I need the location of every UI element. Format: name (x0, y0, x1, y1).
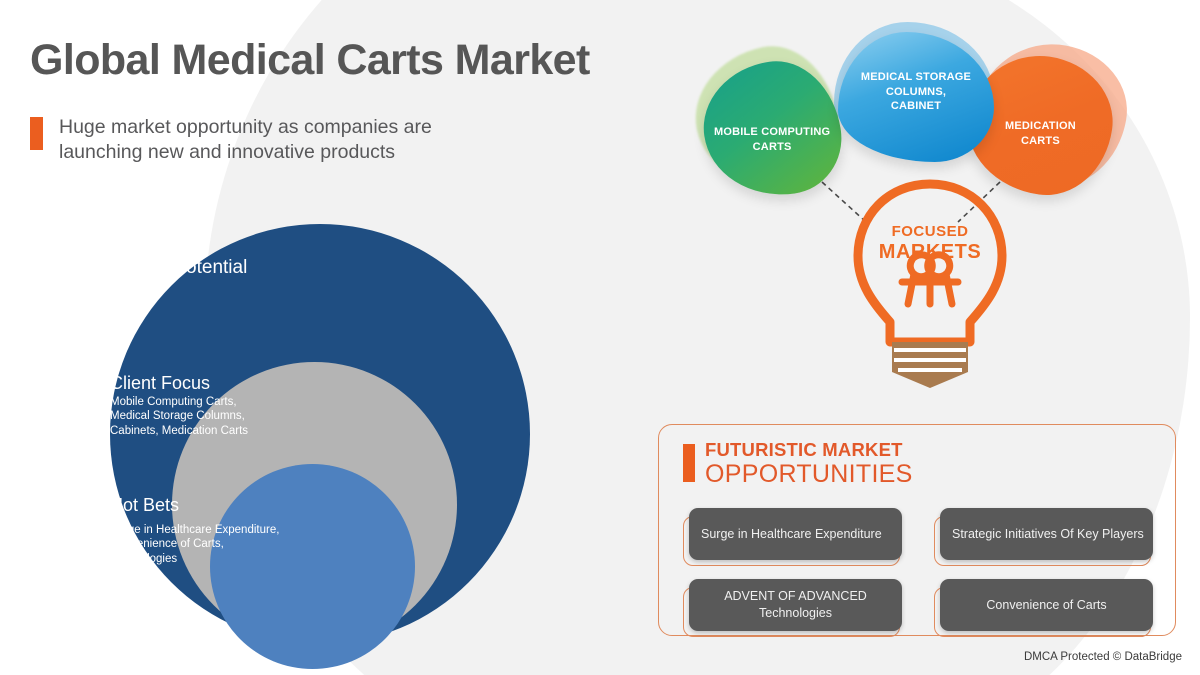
opportunity-card-4-wrap: Convenience of Carts (934, 579, 1153, 631)
hot-bets-desc-line-3: Technologies (110, 552, 530, 567)
opportunity-card-1-wrap: Surge in Healthcare Expenditure (683, 508, 902, 560)
mobile-carts-line-2: CARTS (753, 119, 792, 153)
opportunity-card-3-label: ADVENT OF ADVANCED Technologies (724, 588, 867, 622)
hot-bets-desc-line-1: Surge in Healthcare Expenditure, (110, 523, 530, 538)
client-focus-desc-line-3: Cabinets, Medication Carts (110, 424, 530, 439)
client-focus-desc-line-1: Mobile Computing Carts, (110, 395, 530, 410)
opportunity-card-3[interactable]: ADVENT OF ADVANCED Technologies (689, 579, 902, 631)
blob-medication-carts-label: MEDICATION CARTS (1005, 101, 1076, 149)
header: Global Medical Carts Market Huge market … (30, 38, 590, 165)
hot-bets-desc-line-2: Convenience of Carts, (110, 537, 530, 552)
blob-medical-storage-label: MEDICAL STORAGE COLUMNS, CABINET (861, 70, 971, 125)
clients-potential-title: Clients Potential (110, 257, 530, 279)
subtitle-row: Huge market opportunity as companies are… (30, 115, 590, 165)
concentric-circles-diagram: Clients Potential Product Client Focus M… (110, 224, 530, 644)
focused-markets-shapes: MOBILE COMPUTING CARTS MEDICAL STORAGE C… (660, 0, 1200, 200)
page-title: Global Medical Carts Market (30, 38, 590, 83)
hot-bets-label: Hot Bets Surge in Healthcare Expenditure… (110, 495, 530, 567)
opportunity-card-1[interactable]: Surge in Healthcare Expenditure (689, 508, 902, 560)
panel-header: FUTURISTIC MARKET OPPORTUNITIES (683, 441, 913, 487)
panel-title-group: FUTURISTIC MARKET OPPORTUNITIES (705, 441, 913, 487)
client-focus-label: Client Focus Mobile Computing Carts, Med… (110, 373, 530, 439)
panel-accent-bar (683, 444, 695, 482)
opportunity-card-grid: Surge in Healthcare Expenditure Strategi… (683, 508, 1153, 650)
slide-canvas: Global Medical Carts Market Huge market … (0, 0, 1200, 675)
medication-carts-line-2: CARTS (1021, 117, 1060, 147)
panel-title-line-2: OPPORTUNITIES (705, 461, 913, 487)
footer-copyright: DMCA Protected © DataBridge (1024, 651, 1182, 663)
accent-bar (30, 117, 43, 150)
opportunity-card-2[interactable]: Strategic Initiatives Of Key Players (940, 508, 1153, 560)
subtitle-line-2: launching new and innovative products (59, 140, 432, 165)
medical-storage-line-3: CABINET (891, 100, 941, 122)
card-row-1: Surge in Healthcare Expenditure Strategi… (683, 508, 1153, 560)
subtitle-line-1: Huge market opportunity as companies are (59, 115, 432, 140)
clients-potential-desc: Product (110, 285, 530, 300)
opportunity-card-3-line-2: Technologies (759, 606, 832, 620)
opportunity-card-3-line-1: ADVENT OF ADVANCED (724, 589, 867, 603)
lightbulb-icon (840, 176, 1020, 391)
card-row-2: ADVENT OF ADVANCED Technologies Convenie… (683, 579, 1153, 631)
panel-title-line-1: FUTURISTIC MARKET (705, 441, 913, 460)
opportunity-card-4-label: Convenience of Carts (986, 597, 1106, 614)
futuristic-opportunities-panel: FUTURISTIC MARKET OPPORTUNITIES Surge in… (658, 424, 1176, 636)
hot-bets-desc: Surge in Healthcare Expenditure, Conveni… (110, 523, 530, 567)
focused-markets-bulb[interactable]: FOCUSED MARKETS (840, 176, 1020, 391)
client-focus-desc-line-2: Medical Storage Columns, (110, 409, 530, 424)
hot-bets-title: Hot Bets (110, 495, 530, 516)
opportunity-card-1-label: Surge in Healthcare Expenditure (701, 526, 882, 543)
opportunity-card-4[interactable]: Convenience of Carts (940, 579, 1153, 631)
blob-mobile-computing-carts-label: MOBILE COMPUTING CARTS (714, 103, 830, 155)
client-focus-title: Client Focus (110, 373, 530, 394)
client-focus-desc: Mobile Computing Carts, Medical Storage … (110, 395, 530, 439)
clients-potential-label: Clients Potential Product (110, 257, 530, 300)
page-subtitle: Huge market opportunity as companies are… (59, 115, 432, 165)
opportunity-card-2-wrap: Strategic Initiatives Of Key Players (934, 508, 1153, 560)
opportunity-card-2-label: Strategic Initiatives Of Key Players (952, 526, 1144, 543)
opportunity-card-3-wrap: ADVENT OF ADVANCED Technologies (683, 579, 902, 631)
